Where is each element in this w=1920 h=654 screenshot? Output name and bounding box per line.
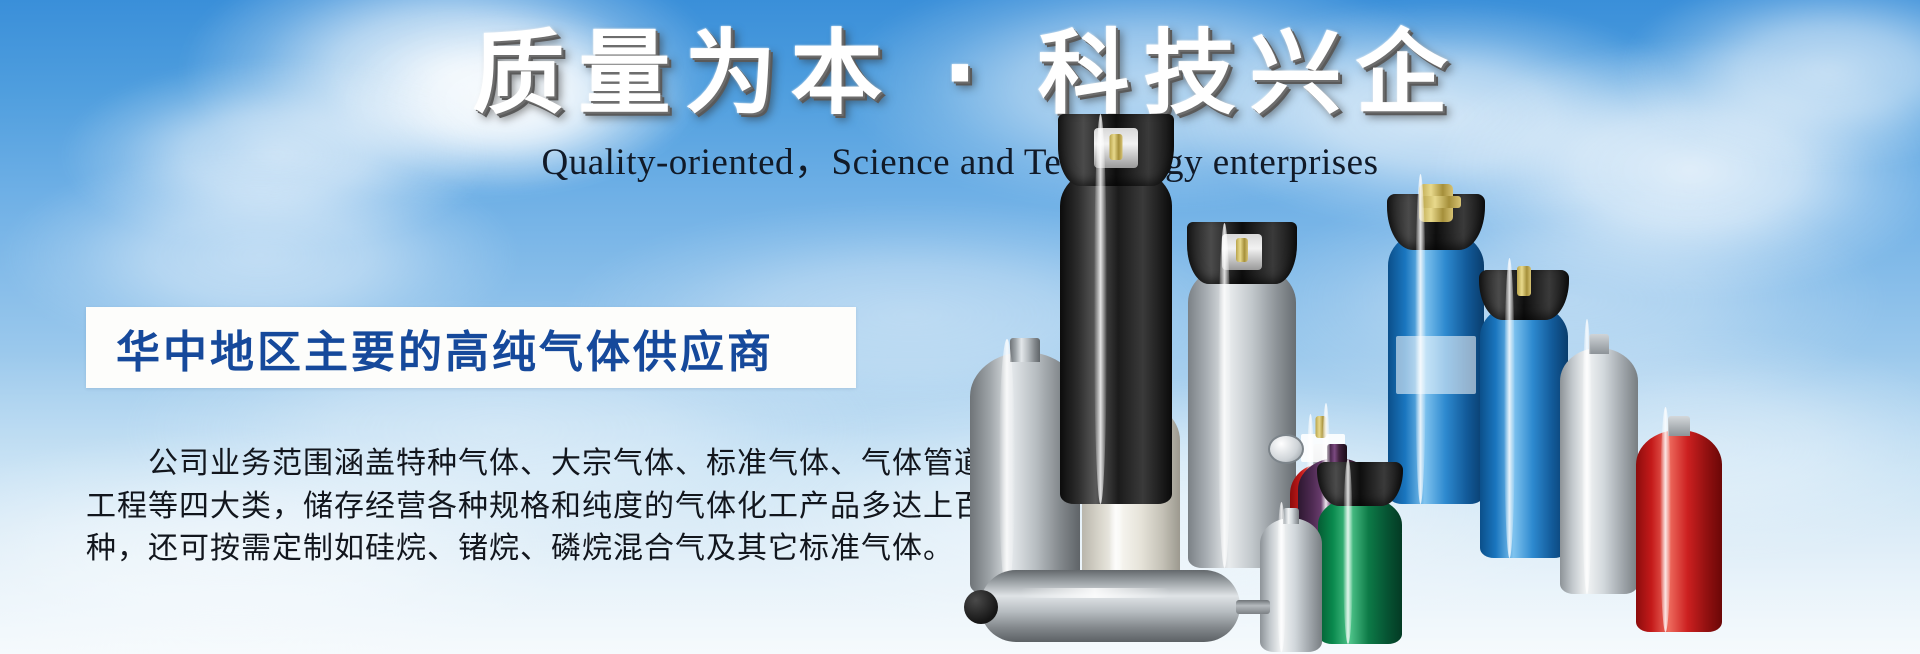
gas-cylinder-group — [960, 0, 1920, 654]
blue-regulator-cylinder — [1388, 174, 1484, 504]
black-tall-cylinder — [1060, 114, 1172, 504]
small-aluminium-cylinder — [1260, 502, 1322, 652]
promo-banner: 质量为本 · 科技兴企 Quality-oriented，Science and… — [0, 0, 1920, 654]
paragraph-line: 种，还可按需定制如硅烷、锗烷、磷烷混合气及其它标准气体。 — [86, 528, 876, 571]
subtitle-text: 华中地区主要的高纯气体供应商 — [86, 316, 774, 380]
description-paragraph: 公司业务范围涵盖特种气体、大宗气体、标准气体、气体管道 工程等四大类，储存经营各… — [86, 443, 876, 571]
green-cylinder — [1318, 459, 1402, 644]
blue-tall-cylinder — [1480, 258, 1568, 558]
paragraph-line: 公司业务范围涵盖特种气体、大宗气体、标准气体、气体管道 — [86, 443, 876, 486]
red-large-cylinder — [1636, 407, 1722, 632]
aluminium-cylinder — [1560, 319, 1638, 594]
paragraph-line: 工程等四大类，储存经营各种规格和纯度的气体化工产品多达上百 — [86, 486, 876, 529]
subtitle-box: 华中地区主要的高纯气体供应商 — [86, 307, 856, 388]
